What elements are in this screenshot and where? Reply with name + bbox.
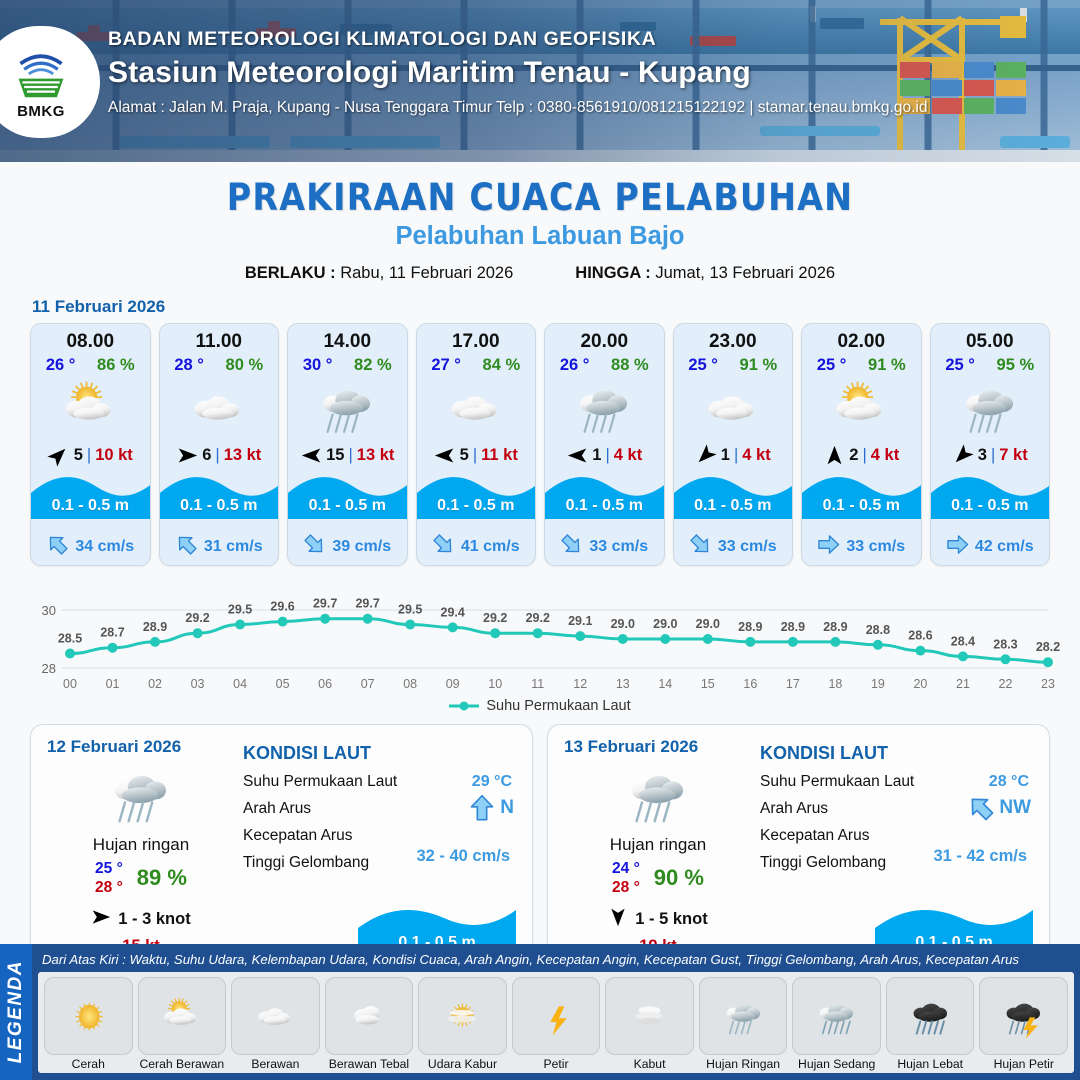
day-wind-range: 1 - 5 knot xyxy=(635,910,707,929)
current-direction-value: NW xyxy=(967,794,1031,822)
card-weather-icon xyxy=(802,377,921,439)
current-direction-row: Arah Arus N xyxy=(243,800,518,818)
hourly-card: 23.00 25 ° 91 % 1 | 4 kt 0.1 - xyxy=(673,323,794,566)
card-wind: 1 | 4 kt xyxy=(674,439,793,471)
chart-xtick: 10 xyxy=(488,677,502,691)
chart-point xyxy=(1043,657,1053,667)
daily-forecast-panel: 12 Februari 2026 Hujan ringan 25 ° 28 ° … xyxy=(30,724,533,967)
card-wind-direction xyxy=(434,444,456,466)
card-wave: 0.1 - 0.5 m xyxy=(545,471,664,529)
chart-legend-label: Suhu Permukaan Laut xyxy=(486,698,630,714)
legend-item-label: Kabut xyxy=(605,1057,694,1071)
legend-item: Berawan Tebal xyxy=(325,977,414,1071)
card-wind: 6 | 13 kt xyxy=(160,439,279,471)
port-name: Pelabuhan Labuan Bajo xyxy=(0,222,1080,251)
sea-conditions-title: KONDISI LAUT xyxy=(243,743,518,764)
chart-xtick: 11 xyxy=(531,677,544,691)
page-header: BMKG BADAN METEOROLOGI KLIMATOLOGI DAN G… xyxy=(0,0,1080,162)
hourly-card: 14.00 30 ° 82 % 15 | 13 kt 0.1 xyxy=(287,323,408,566)
card-gust: 10 kt xyxy=(95,446,133,465)
weather-icon-berawan xyxy=(179,375,259,440)
card-wind-direction xyxy=(48,444,70,466)
chart-point-label: 28.4 xyxy=(951,634,975,648)
chart-point xyxy=(788,637,798,647)
chart-point-label: 29.1 xyxy=(568,614,592,628)
day1-date: 11 Februari 2026 xyxy=(32,297,1080,317)
card-current-direction xyxy=(817,533,840,561)
card-separator: | xyxy=(473,446,477,465)
valid-to-label: HINGGA : xyxy=(575,264,650,282)
chart-legend-swatch xyxy=(449,700,479,712)
day-weather-icon xyxy=(45,761,237,829)
legend-item-icon xyxy=(605,977,694,1055)
card-wind-speed: 2 xyxy=(849,446,858,465)
card-time: 08.00 xyxy=(31,324,150,353)
wind-direction-icon-S xyxy=(608,907,628,927)
chart-point-label: 29.0 xyxy=(653,617,677,631)
day-condition: Hujan ringan xyxy=(45,835,237,855)
valid-from: BERLAKU : Rabu, 11 Februari 2026 xyxy=(245,264,513,283)
card-wave: 0.1 - 0.5 m xyxy=(931,471,1050,529)
card-time: 05.00 xyxy=(931,324,1050,353)
card-current-direction xyxy=(946,533,969,561)
daily-forecast-panels: 12 Februari 2026 Hujan ringan 25 ° 28 ° … xyxy=(0,714,1080,967)
chart-xtick: 07 xyxy=(361,677,375,691)
card-separator: | xyxy=(348,446,352,465)
chart-xtick: 06 xyxy=(318,677,332,691)
sst-value: 29 °C xyxy=(472,773,512,791)
card-current-direction xyxy=(432,533,455,561)
legend-body: Dari Atas Kiri : Waktu, Suhu Udara, Kele… xyxy=(32,944,1080,1080)
weather-icon-hujan-lebat xyxy=(902,993,959,1040)
day-summary: 12 Februari 2026 Hujan ringan 25 ° 28 ° … xyxy=(45,737,237,956)
current-direction-icon-NW xyxy=(962,788,1002,828)
card-current-speed: 33 cm/s xyxy=(589,538,648,556)
chart-line xyxy=(70,619,1048,663)
chart-point-label: 29.2 xyxy=(483,611,507,625)
card-current-speed: 33 cm/s xyxy=(718,538,777,556)
weather-icon-cerah-berawan xyxy=(50,375,130,440)
hourly-card: 05.00 25 ° 95 % 3 | 7 kt 0.1 - xyxy=(930,323,1051,566)
chart-point xyxy=(915,646,925,656)
station-name: Stasiun Meteorologi Maritim Tenau - Kupa… xyxy=(108,56,927,90)
day-temp-min: 25 ° xyxy=(95,859,123,878)
card-wind-speed: 1 xyxy=(592,446,601,465)
card-weather-icon xyxy=(160,377,279,439)
page-title: PRAKIRAAN CUACA PELABUHAN xyxy=(0,176,1080,219)
legend-item-label: Hujan Lebat xyxy=(886,1057,975,1071)
card-current-speed: 31 cm/s xyxy=(204,538,263,556)
validity-row: BERLAKU : Rabu, 11 Februari 2026 HINGGA … xyxy=(0,264,1080,283)
legend-item-label: Hujan Petir xyxy=(979,1057,1068,1071)
legend-tab: LEGENDA xyxy=(0,944,32,1080)
card-wave: 0.1 - 0.5 m xyxy=(802,471,921,529)
legend-note: Dari Atas Kiri : Waktu, Suhu Udara, Kele… xyxy=(38,948,1074,972)
chart-point xyxy=(405,620,415,630)
card-current-direction xyxy=(560,533,583,561)
legend-item: Cerah Berawan xyxy=(138,977,227,1071)
card-gust: 13 kt xyxy=(357,446,395,465)
legend-items: Cerah Cerah Berawan Berawan xyxy=(38,972,1074,1073)
card-wave-height: 0.1 - 0.5 m xyxy=(288,497,407,515)
card-humidity: 80 % xyxy=(226,356,264,375)
card-weather-icon xyxy=(288,377,407,439)
card-time: 17.00 xyxy=(417,324,536,353)
card-metrics: 26 ° 88 % xyxy=(545,353,664,375)
day-temp-max: 28 ° xyxy=(95,878,123,897)
chart-xtick: 03 xyxy=(191,677,205,691)
legend-item-icon xyxy=(886,977,975,1055)
card-humidity: 91 % xyxy=(740,356,778,375)
chart-xtick: 01 xyxy=(106,677,120,691)
card-wave: 0.1 - 0.5 m xyxy=(417,471,536,529)
card-temperature: 25 ° xyxy=(688,356,718,375)
card-wind: 3 | 7 kt xyxy=(931,439,1050,471)
weather-icon-cerah-berawan xyxy=(821,375,901,440)
bmkg-logo-text: BMKG xyxy=(17,103,65,120)
current-direction-text: N xyxy=(500,797,514,819)
weather-icon-udara-kabur xyxy=(434,993,491,1040)
legend-item-label: Petir xyxy=(512,1057,601,1071)
card-current-direction xyxy=(175,533,198,561)
legend-item-icon xyxy=(699,977,788,1055)
weather-icon-berawan-tebal xyxy=(340,993,397,1040)
current-speed-row: Kecepatan Arus 32 - 40 cm/s xyxy=(243,827,518,845)
current-direction-icon-E xyxy=(946,533,969,556)
card-current: 33 cm/s xyxy=(674,529,793,565)
day-humidity: 90 % xyxy=(654,865,704,891)
chart-xtick: 19 xyxy=(871,677,885,691)
card-gust: 13 kt xyxy=(224,446,262,465)
card-humidity: 88 % xyxy=(611,356,649,375)
legend-section: LEGENDA Dari Atas Kiri : Waktu, Suhu Uda… xyxy=(0,944,1080,1080)
chart-point-label: 29.4 xyxy=(441,605,465,619)
chart-point xyxy=(618,634,628,644)
current-direction-label: Arah Arus xyxy=(760,800,828,817)
legend-item-icon xyxy=(512,977,601,1055)
chart-xtick: 09 xyxy=(446,677,460,691)
chart-point xyxy=(1000,654,1010,664)
chart-point-label: 28.2 xyxy=(1036,640,1060,654)
valid-to: HINGGA : Jumat, 13 Februari 2026 xyxy=(575,264,835,283)
legend-item-label: Berawan xyxy=(231,1057,320,1071)
card-separator: | xyxy=(215,446,219,465)
card-current: 42 cm/s xyxy=(931,529,1050,565)
sea-conditions-title: KONDISI LAUT xyxy=(760,743,1035,764)
chart-xtick: 21 xyxy=(956,677,970,691)
weather-icon-cerah xyxy=(60,993,117,1040)
card-wave: 0.1 - 0.5 m xyxy=(31,471,150,529)
card-wind-speed: 5 xyxy=(74,446,83,465)
chart-legend: Suhu Permukaan Laut xyxy=(0,698,1080,714)
card-separator: | xyxy=(605,446,609,465)
current-direction-value: N xyxy=(468,794,514,822)
chart-xtick: 14 xyxy=(658,677,672,691)
card-humidity: 82 % xyxy=(354,356,392,375)
hourly-card: 02.00 25 ° 91 % 2 | 4 kt 0.1 - xyxy=(801,323,922,566)
card-wave-height: 0.1 - 0.5 m xyxy=(31,497,150,515)
legend-item-label: Cerah xyxy=(44,1057,133,1071)
card-metrics: 30 ° 82 % xyxy=(288,353,407,375)
card-wave: 0.1 - 0.5 m xyxy=(160,471,279,529)
wind-direction-icon-SW xyxy=(948,440,978,470)
card-wave-height: 0.1 - 0.5 m xyxy=(674,497,793,515)
card-metrics: 25 ° 91 % xyxy=(802,353,921,375)
card-metrics: 27 ° 84 % xyxy=(417,353,536,375)
card-wind: 5 | 11 kt xyxy=(417,439,536,471)
card-temperature: 27 ° xyxy=(431,356,461,375)
card-wind-speed: 3 xyxy=(978,446,987,465)
legend-item: Hujan Lebat xyxy=(886,977,975,1071)
current-direction-icon-E xyxy=(817,533,840,556)
current-direction-icon-NW xyxy=(170,528,203,561)
card-wind-direction xyxy=(566,444,588,466)
chart-point xyxy=(660,634,670,644)
chart-point-label: 29.5 xyxy=(228,603,252,617)
agency-name: BADAN METEOROLOGI KLIMATOLOGI DAN GEOFIS… xyxy=(108,28,927,51)
wind-direction-icon-W xyxy=(434,445,455,466)
day-wind-range: 1 - 3 knot xyxy=(118,910,190,929)
card-wind: 15 | 13 kt xyxy=(288,439,407,471)
legend-item-label: Hujan Sedang xyxy=(792,1057,881,1071)
card-current: 41 cm/s xyxy=(417,529,536,565)
day-wind: 1 - 5 knot xyxy=(562,907,754,932)
legend-item: Hujan Sedang xyxy=(792,977,881,1071)
card-wind-speed: 15 xyxy=(326,446,344,465)
card-time: 11.00 xyxy=(160,324,279,353)
legend-item-label: Berawan Tebal xyxy=(325,1057,414,1071)
weather-icon-kabut xyxy=(621,993,678,1040)
day-temps: 24 ° 28 ° xyxy=(612,859,640,898)
day-wind: 1 - 3 knot xyxy=(45,907,237,932)
chart-point xyxy=(150,637,160,647)
chart-point-label: 29.0 xyxy=(611,617,635,631)
wave-label: Tinggi Gelombang xyxy=(243,854,369,871)
card-separator: | xyxy=(734,446,738,465)
chart-point-label: 28.9 xyxy=(781,620,805,634)
chart-xtick: 12 xyxy=(573,677,587,691)
card-current-direction xyxy=(689,533,712,561)
chart-point xyxy=(873,640,883,650)
day-weather-icon xyxy=(562,761,754,829)
chart-xtick: 00 xyxy=(63,677,77,691)
card-weather-icon xyxy=(417,377,536,439)
legend-tab-label: LEGENDA xyxy=(5,960,27,1063)
chart-ytick: 28 xyxy=(42,661,56,676)
wave-row: Tinggi Gelombang xyxy=(243,854,518,872)
card-temperature: 28 ° xyxy=(174,356,204,375)
card-separator: | xyxy=(991,446,995,465)
chart-point xyxy=(745,637,755,647)
card-current-speed: 41 cm/s xyxy=(461,538,520,556)
valid-to-value: Jumat, 13 Februari 2026 xyxy=(655,264,835,282)
card-wind-direction xyxy=(176,444,198,466)
sst-row: Suhu Permukaan Laut 28 °C xyxy=(760,773,1035,791)
valid-from-value: Rabu, 11 Februari 2026 xyxy=(340,264,513,282)
current-direction-row: Arah Arus NW xyxy=(760,800,1035,818)
card-current: 33 cm/s xyxy=(802,529,921,565)
sst-row: Suhu Permukaan Laut 29 °C xyxy=(243,773,518,791)
legend-item-label: Hujan Ringan xyxy=(699,1057,788,1071)
legend-item-icon xyxy=(231,977,320,1055)
card-separator: | xyxy=(862,446,866,465)
chart-xtick: 08 xyxy=(403,677,417,691)
day-temps: 25 ° 28 ° xyxy=(95,859,123,898)
day-condition: Hujan ringan xyxy=(562,835,754,855)
current-direction-icon-NW xyxy=(42,528,75,561)
chart-point-label: 29.6 xyxy=(270,600,294,614)
card-gust: 7 kt xyxy=(999,446,1027,465)
day-summary: 13 Februari 2026 Hujan ringan 24 ° 28 ° … xyxy=(562,737,754,956)
card-separator: | xyxy=(87,446,91,465)
card-metrics: 26 ° 86 % xyxy=(31,353,150,375)
legend-item-label: Cerah Berawan xyxy=(138,1057,227,1071)
card-gust: 4 kt xyxy=(871,446,899,465)
card-wave-height: 0.1 - 0.5 m xyxy=(160,497,279,515)
card-weather-icon xyxy=(545,377,664,439)
card-temperature: 26 ° xyxy=(560,356,590,375)
card-humidity: 86 % xyxy=(97,356,135,375)
card-wind: 5 | 10 kt xyxy=(31,439,150,471)
current-speed-row: Kecepatan Arus 31 - 42 cm/s xyxy=(760,827,1035,845)
chart-xtick: 22 xyxy=(999,677,1013,691)
legend-item: Kabut xyxy=(605,977,694,1071)
wind-direction-icon-E xyxy=(177,445,198,466)
legend-item-icon xyxy=(44,977,133,1055)
chart-point xyxy=(108,643,118,653)
card-wave-height: 0.1 - 0.5 m xyxy=(802,497,921,515)
card-time: 20.00 xyxy=(545,324,664,353)
hourly-forecast-cards: 08.00 26 ° 86 % 5 | 10 kt 0.1 - xyxy=(0,323,1080,566)
card-weather-icon xyxy=(31,377,150,439)
day-wind-direction xyxy=(608,907,628,932)
chart-point-label: 28.9 xyxy=(738,620,762,634)
card-wave-height: 0.1 - 0.5 m xyxy=(931,497,1050,515)
chart-point xyxy=(278,617,288,627)
hourly-card: 08.00 26 ° 86 % 5 | 10 kt 0.1 - xyxy=(30,323,151,566)
card-wind: 1 | 4 kt xyxy=(545,439,664,471)
chart-xtick: 17 xyxy=(786,677,800,691)
card-current-speed: 34 cm/s xyxy=(75,538,134,556)
card-metrics: 28 ° 80 % xyxy=(160,353,279,375)
card-wind-speed: 5 xyxy=(460,446,469,465)
card-humidity: 91 % xyxy=(868,356,906,375)
sst-chart: 283028.50028.70128.90229.20329.50429.605… xyxy=(18,576,1062,696)
card-humidity: 95 % xyxy=(997,356,1035,375)
chart-point xyxy=(235,620,245,630)
chart-xtick: 20 xyxy=(913,677,927,691)
card-metrics: 25 ° 91 % xyxy=(674,353,793,375)
weather-icon-petir xyxy=(528,993,585,1040)
weather-icon-berawan xyxy=(436,375,516,440)
chart-point-label: 28.7 xyxy=(100,626,124,640)
chart-point-label: 29.5 xyxy=(398,603,422,617)
card-temperature: 26 ° xyxy=(46,356,76,375)
current-direction-icon-SE xyxy=(556,528,589,561)
weather-icon-hujan-ringan xyxy=(715,993,772,1040)
chart-point-label: 28.9 xyxy=(823,620,847,634)
chart-point xyxy=(490,628,500,638)
wind-direction-icon-W xyxy=(301,445,322,466)
day-wind-direction xyxy=(91,907,111,932)
chart-point xyxy=(363,614,373,624)
chart-xtick: 18 xyxy=(828,677,842,691)
card-wind-direction xyxy=(300,444,322,466)
chart-point-label: 29.0 xyxy=(696,617,720,631)
weather-icon-hujan-ringan xyxy=(564,375,644,440)
chart-xtick: 04 xyxy=(233,677,247,691)
current-speed-label: Kecepatan Arus xyxy=(243,827,352,844)
card-wind: 2 | 4 kt xyxy=(802,439,921,471)
chart-point-label: 28.9 xyxy=(143,620,167,634)
chart-point-label: 29.2 xyxy=(185,611,209,625)
chart-xtick: 02 xyxy=(148,677,162,691)
hourly-card: 20.00 26 ° 88 % 1 | 4 kt 0.1 - xyxy=(544,323,665,566)
card-temperature: 30 ° xyxy=(303,356,333,375)
card-wind-direction xyxy=(695,444,717,466)
current-direction-icon-N xyxy=(468,794,496,822)
chart-point xyxy=(65,649,75,659)
legend-item-label: Udara Kabur xyxy=(418,1057,507,1071)
legend-item: Udara Kabur xyxy=(418,977,507,1071)
legend-item-icon xyxy=(138,977,227,1055)
legend-item-icon xyxy=(325,977,414,1055)
card-temperature: 25 ° xyxy=(945,356,975,375)
chart-xtick: 15 xyxy=(701,677,715,691)
wind-direction-icon-SW xyxy=(691,440,721,470)
card-current-speed: 39 cm/s xyxy=(332,538,391,556)
chart-point xyxy=(703,634,713,644)
current-direction-label: Arah Arus xyxy=(243,800,311,817)
card-wave: 0.1 - 0.5 m xyxy=(674,471,793,529)
wind-direction-icon-NE xyxy=(44,440,74,470)
weather-icon-cerah-berawan xyxy=(153,993,210,1040)
legend-item: Petir xyxy=(512,977,601,1071)
weather-icon-hujan-ringan xyxy=(614,759,701,830)
current-speed-label: Kecepatan Arus xyxy=(760,827,869,844)
day-temp-min: 24 ° xyxy=(612,859,640,878)
card-gust: 11 kt xyxy=(481,446,518,465)
legend-item-icon xyxy=(418,977,507,1055)
card-wave-height: 0.1 - 0.5 m xyxy=(417,497,536,515)
card-current-direction xyxy=(46,533,69,561)
chart-point-label: 28.3 xyxy=(993,637,1017,651)
wind-direction-icon-E xyxy=(91,907,111,927)
weather-icon-hujan-ringan xyxy=(307,375,387,440)
hourly-card: 11.00 28 ° 80 % 6 | 13 kt 0.1 - xyxy=(159,323,280,566)
chart-ytick: 30 xyxy=(42,603,56,618)
chart-point xyxy=(830,637,840,647)
card-time: 02.00 xyxy=(802,324,921,353)
valid-from-label: BERLAKU : xyxy=(245,264,336,282)
chart-point-label: 28.5 xyxy=(58,632,82,646)
weather-icon-hujan-petir xyxy=(995,993,1052,1040)
chart-xtick: 23 xyxy=(1041,677,1055,691)
chart-point-label: 29.7 xyxy=(355,597,379,611)
current-direction-icon-SE xyxy=(299,528,332,561)
sea-conditions: KONDISI LAUT Suhu Permukaan Laut 28 °C A… xyxy=(754,737,1035,956)
legend-item-icon xyxy=(792,977,881,1055)
weather-icon-hujan-sedang xyxy=(808,993,865,1040)
hourly-card: 17.00 27 ° 84 % 5 | 11 kt 0.1 - xyxy=(416,323,537,566)
wind-direction-icon-N xyxy=(824,445,845,466)
chart-point-label: 28.8 xyxy=(866,623,890,637)
day-date: 12 Februari 2026 xyxy=(47,737,237,757)
weather-icon-hujan-ringan xyxy=(97,759,184,830)
sst-label: Suhu Permukaan Laut xyxy=(243,773,397,790)
station-address: Alamat : Jalan M. Praja, Kupang - Nusa T… xyxy=(108,99,927,117)
wind-direction-icon-W xyxy=(567,445,588,466)
